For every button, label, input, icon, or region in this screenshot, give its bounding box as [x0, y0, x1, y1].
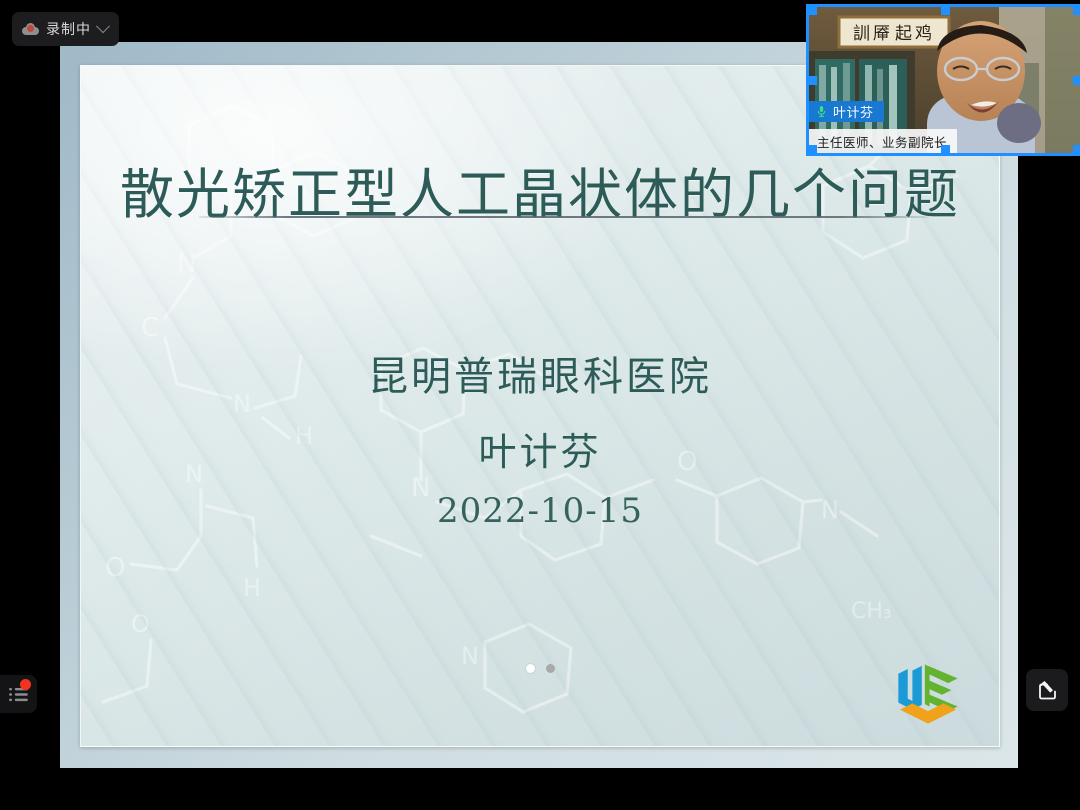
- svg-text:厣: 厣: [873, 24, 890, 44]
- recording-indicator[interactable]: 录制中: [12, 12, 119, 46]
- slide-date: 2022-10-15: [81, 491, 999, 531]
- slide-presenter: 叶计芬: [81, 421, 999, 476]
- resize-handle-top-center[interactable]: [941, 6, 950, 15]
- cloud-record-icon: [22, 23, 39, 35]
- resize-handle-bottom-left[interactable]: [808, 145, 817, 154]
- resize-handle-top-right[interactable]: [1073, 6, 1080, 15]
- svg-text:起: 起: [895, 24, 912, 44]
- participants-list-button[interactable]: [0, 675, 37, 713]
- svg-text:CH₃: CH₃: [851, 599, 892, 624]
- title-underline: [199, 216, 929, 218]
- microphone-icon: [815, 104, 828, 119]
- annotate-button[interactable]: [1026, 669, 1068, 711]
- svg-text:O: O: [105, 553, 125, 583]
- svg-text:C: C: [141, 313, 159, 343]
- participant-video-tile[interactable]: 訓厣起鸡 叶计芬 主任: [806, 4, 1080, 156]
- pagination-dot-1[interactable]: [526, 664, 535, 673]
- slide-canvas[interactable]: N C N H N O N CH₃: [80, 65, 1000, 747]
- svg-text:O: O: [131, 610, 150, 638]
- slide-pagination[interactable]: [81, 664, 999, 673]
- resize-handle-bottom-center[interactable]: [941, 145, 950, 154]
- svg-text:H: H: [243, 574, 261, 602]
- notification-badge: [20, 679, 31, 690]
- participant-role: 主任医师、业务副院长: [817, 132, 947, 151]
- participant-role-bar: 主任医师、业务副院长: [809, 129, 957, 153]
- resize-handle-top-left[interactable]: [808, 6, 817, 15]
- resize-handle-middle-right[interactable]: [1073, 76, 1080, 85]
- chevron-down-icon[interactable]: [96, 19, 110, 33]
- participant-name-bar: 叶计芬: [809, 101, 884, 122]
- screen-share-view: N C N H N O N CH₃: [0, 0, 1080, 810]
- recording-label: 录制中: [46, 19, 91, 39]
- pagination-dot-2[interactable]: [546, 664, 555, 673]
- resize-handle-bottom-right[interactable]: [1073, 145, 1080, 154]
- svg-text:鸡: 鸡: [915, 24, 932, 44]
- participant-name: 叶计芬: [833, 102, 874, 121]
- slide-organization: 昆明普瑞眼科医院: [81, 344, 999, 402]
- pencil-annotate-icon: [1035, 678, 1059, 702]
- resize-handle-middle-left[interactable]: [808, 76, 817, 85]
- svg-text:N: N: [177, 249, 196, 279]
- wem-cube-logo: [889, 654, 967, 734]
- svg-text:訓: 訓: [853, 24, 870, 44]
